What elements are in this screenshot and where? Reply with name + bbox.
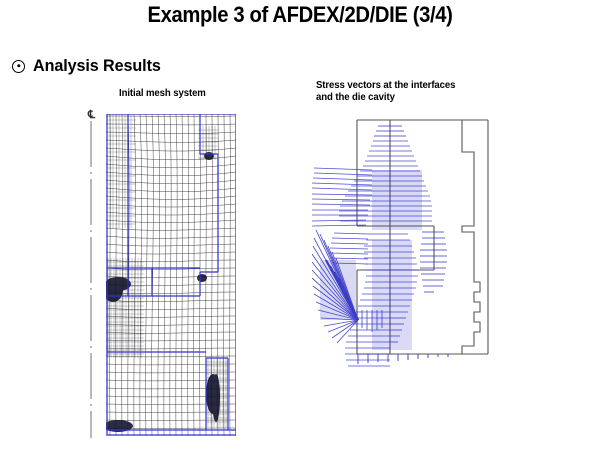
- heading-label: Analysis Results: [33, 56, 161, 76]
- figure-right-caption: Stress vectors at the interfaces and the…: [316, 80, 455, 104]
- mesh-singularity-zones: [103, 152, 220, 432]
- vector-cluster-bottom-ticks: [358, 354, 448, 364]
- initial-mesh-figure: ℄: [80, 108, 260, 443]
- stress-density-wash: [320, 170, 422, 350]
- svg-text:℄: ℄: [87, 109, 96, 121]
- circle-dot-bullet-icon: [12, 60, 25, 73]
- vector-cluster-mid-left: [330, 233, 368, 264]
- analysis-results-heading: Analysis Results: [12, 56, 167, 76]
- centerline-axis: ℄: [87, 109, 96, 438]
- figure-left-caption: Initial mesh system: [119, 88, 206, 100]
- slide-canvas: Example 3 of AFDEX/2D/DIE (3/4) Analysis…: [0, 0, 600, 449]
- stress-vector-figure: [312, 110, 542, 445]
- vector-cluster-left-band: [312, 168, 372, 226]
- page-title: Example 3 of AFDEX/2D/DIE (3/4): [24, 2, 576, 28]
